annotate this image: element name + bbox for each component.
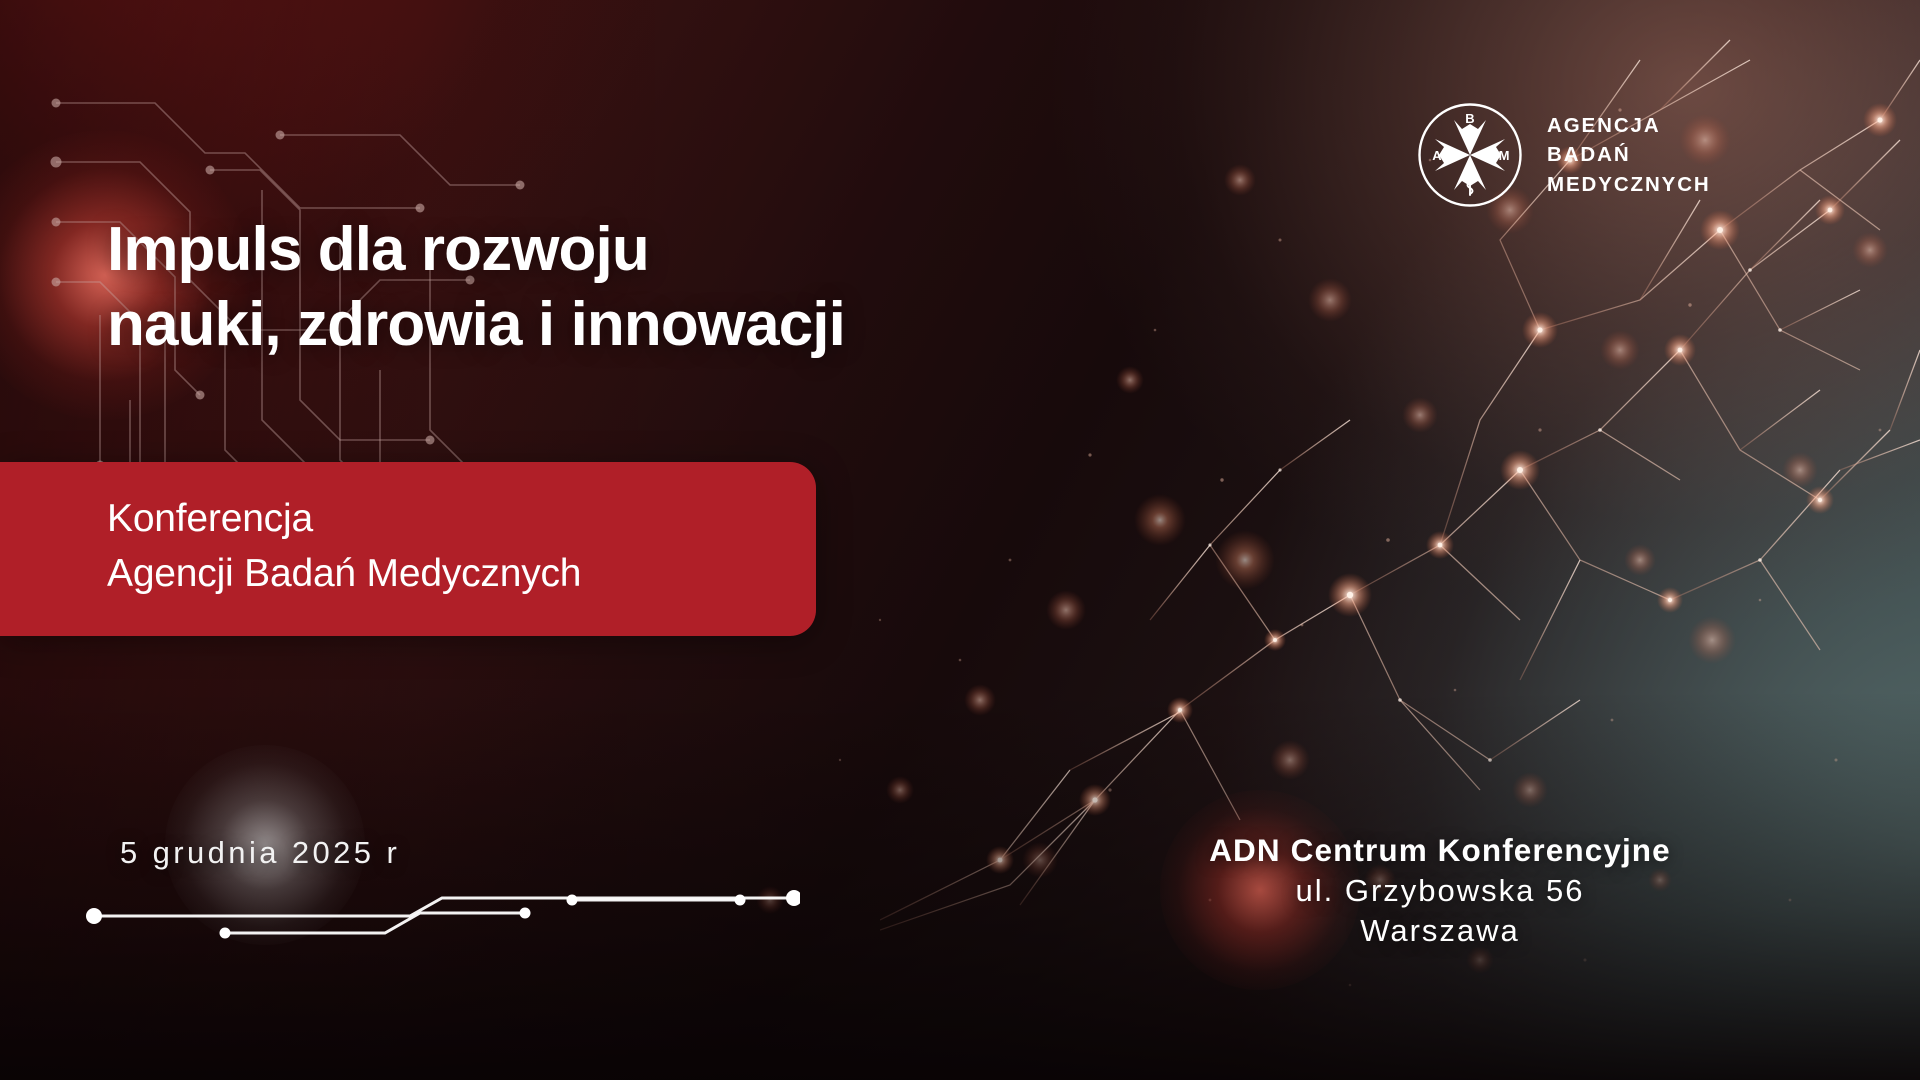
- wordmark-line-1: AGENCJA: [1547, 111, 1711, 140]
- conference-title-text: Konferencja Agencji Badań Medycznych: [107, 492, 581, 601]
- venue-info: ADN Centrum Konferencyjne ul. Grzybowska…: [1060, 830, 1820, 952]
- conference-title-banner: Konferencja Agencji Badań Medycznych: [0, 462, 816, 636]
- abm-wordmark: AGENCJA BADAŃ MEDYCZNYCH: [1547, 111, 1711, 198]
- conference-banner: B A M AGENCJA BADAŃ MEDYCZNYCH Impuls dl…: [0, 0, 1920, 1080]
- wordmark-line-2: BADAŃ: [1547, 140, 1711, 169]
- headline-line-2: nauki, zdrowia i innowacji: [107, 287, 845, 362]
- event-date: 5 grudnia 2025 r: [120, 835, 400, 871]
- logo-letter-m: M: [1499, 148, 1510, 163]
- circuit-line-decoration: [80, 860, 800, 980]
- logo-letter-b: B: [1465, 111, 1474, 126]
- venue-name: ADN Centrum Konferencyjne: [1060, 830, 1820, 871]
- conference-line-2: Agencji Badań Medycznych: [107, 547, 581, 602]
- wordmark-line-3: MEDYCZNYCH: [1547, 170, 1711, 199]
- logo-letter-a: A: [1432, 148, 1442, 163]
- venue-street: ul. Grzybowska 56: [1060, 871, 1820, 911]
- abm-logo: B A M AGENCJA BADAŃ MEDYCZNYCH: [1415, 100, 1711, 210]
- headline-line-1: Impuls dla rozwoju: [107, 212, 845, 287]
- conference-line-1: Konferencja: [107, 492, 581, 547]
- venue-city: Warszawa: [1060, 911, 1820, 951]
- page-title: Impuls dla rozwoju nauki, zdrowia i inno…: [107, 212, 845, 362]
- abm-maltese-cross-logo-icon: B A M: [1415, 100, 1525, 210]
